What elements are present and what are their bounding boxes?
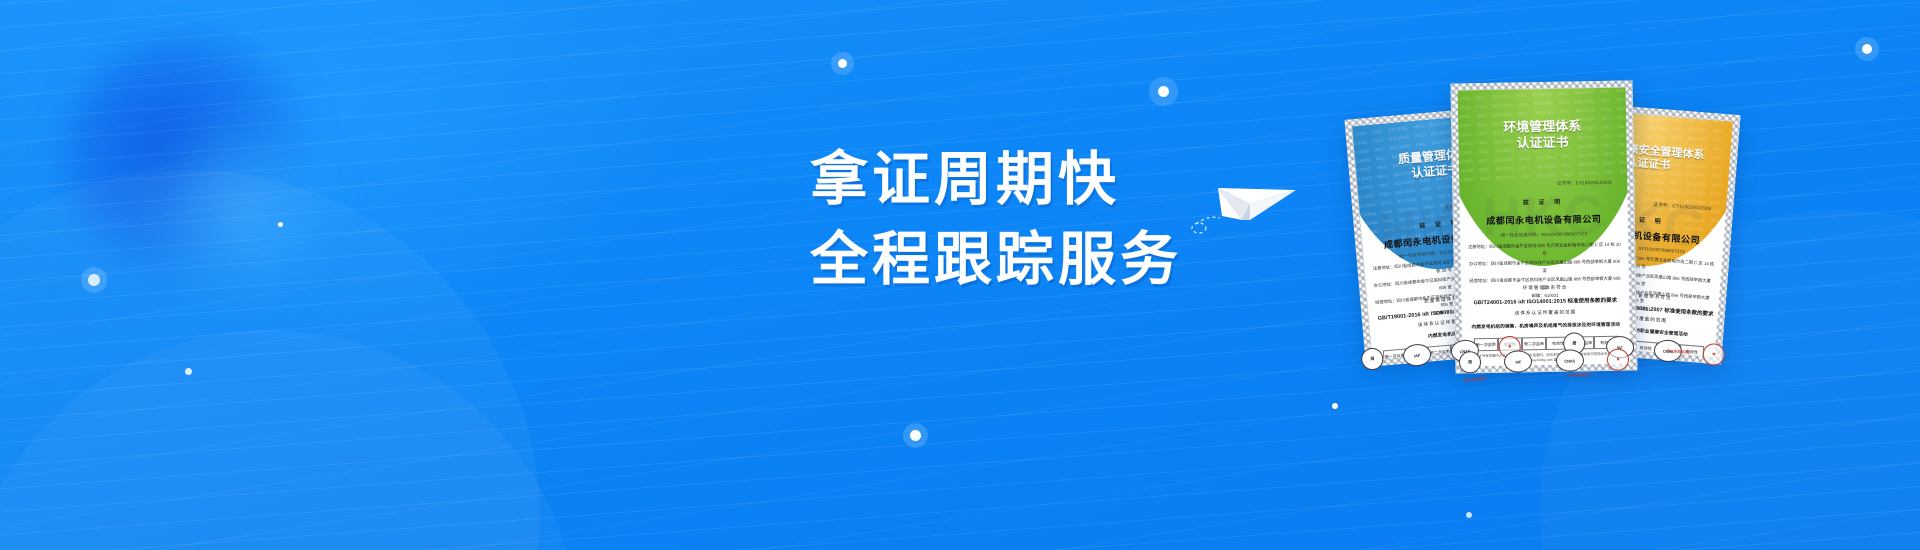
certificate-title-line-2: 认证证书 [1458,133,1626,152]
decorative-dot [1332,403,1338,409]
certificate-standard: GB/T24001-2016 idt ISO14001:2015 标准使用条款的… [1461,296,1629,307]
certificate-coverage-label: 该体系认证所覆盖的范围 [1461,309,1629,318]
certificate-number-value: E4190200J2906 [1576,180,1612,186]
seal-zhou-icon: 周 [1459,351,1481,373]
certificate-environment[interactable]: HKC BEIJING HKC BEIJING HKC BEIJING HKC … [1450,80,1637,373]
decorative-dot [88,274,100,286]
decorative-dot [185,368,192,375]
certificate-number: 证书号：E4190200J2906 [1557,180,1612,187]
certificate-number-label: 证书号： [1653,202,1673,208]
red-stamp-icon: ★ [1607,349,1629,371]
decorative-dot [1862,44,1872,54]
cnas-logo-icon: CNAS [1555,349,1583,371]
certificate-title: 环境管理体系 认证证书 [1458,118,1627,153]
decorative-dot [1158,86,1169,97]
decorative-dot [838,59,847,68]
certificate-coverage-text: 内燃发电机组的销售、机房噪声及机组尾气的排放涉及的环境管理活动 [1462,322,1630,331]
certificate-number-label: 证书号： [1557,180,1576,185]
decorative-dot [278,222,283,227]
certificate-address: 注册地址：四川省成都市金牛区府河 555 号万贯五金机电市场二期 C 区 14 … [1460,241,1629,303]
paper-plane-icon [1190,158,1310,238]
decorative-dot [1466,512,1472,518]
certificate-seals-environment: 周 IAF CNAS ★ [1459,349,1629,374]
iaf-logo-icon: IAF [1504,350,1532,372]
certificate-coverage-label-text: 该体系认证所覆盖的范围 [1461,309,1629,318]
certificate-standard-text: GB/T24001-2016 idt ISO14001:2015 标准使用条款的… [1461,296,1629,307]
certificate-group: HKC BEIJING HKC BEIJING HKC BEIJING HKC … [1355,60,1915,480]
promo-banner: 拿证周期快 全程跟踪服务 HKC BEIJING HKC BEIJING HKC… [0,0,1920,550]
decorative-dot [910,430,921,441]
seal-zhou-icon: 周 [1360,347,1384,371]
iaf-logo-icon: IAF [1402,343,1432,367]
audit-cell: 第二次监审 [1522,337,1546,350]
certificate-inner: HKC BEIJING HKC BEIJING HKC BEIJING HKC … [1458,88,1631,367]
certificate-coverage: 内燃发电机组的销售、机房噪声及机组尾气的排放涉及的环境管理活动 [1462,322,1630,331]
